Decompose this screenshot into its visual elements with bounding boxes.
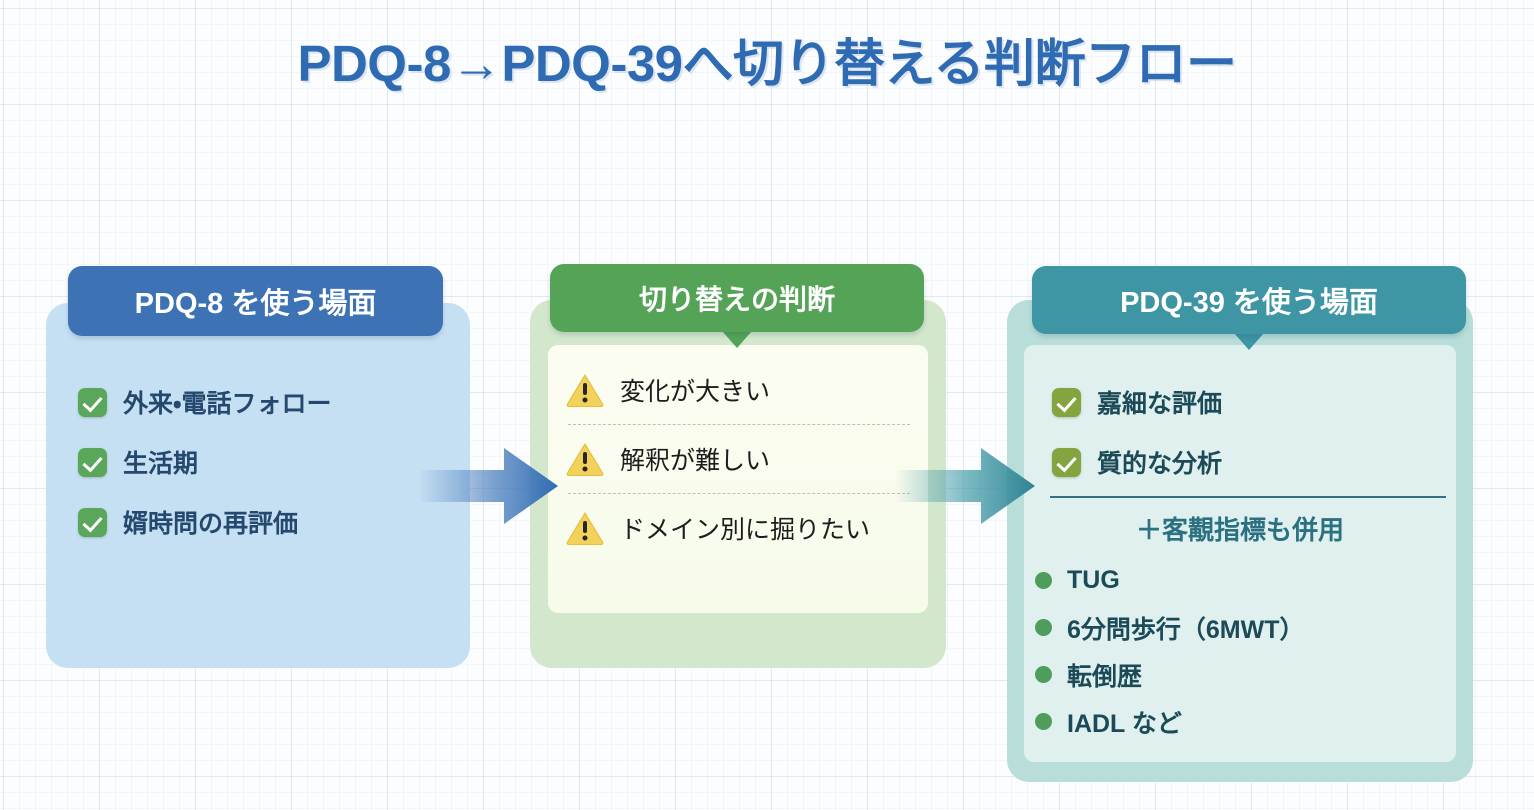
list-item: TUG [1035, 557, 1455, 604]
list-item: 質的な分析 [1052, 432, 1462, 492]
list-separator [568, 424, 910, 425]
list-item-label: 質的な分析 [1097, 444, 1222, 480]
card-pdq8-list: 外来・電話フォロー 生活期 婿時問の再評価 [78, 372, 448, 552]
check-icon [78, 448, 107, 477]
list-item: 嘉細な評価 [1052, 372, 1462, 432]
list-item-label: ドメイン別に掘りたい [620, 510, 870, 546]
warning-icon [566, 442, 604, 476]
list-separator [568, 493, 910, 494]
bullet-dot-icon [1035, 666, 1052, 683]
list-item-label: 転倒歴 [1067, 657, 1142, 693]
list-item-label: 婿時問の再評価 [123, 504, 298, 540]
card-pdq39-header-tail [1234, 333, 1264, 350]
check-icon [1052, 388, 1081, 417]
warning-icon [566, 373, 604, 407]
check-icon [1052, 448, 1081, 477]
list-item-label: 生活期 [123, 444, 198, 480]
card-pdq39-plus-note: ＋客覯指標も併用 [1024, 510, 1456, 547]
card-pdq39-bullet-list: TUG 6分問歩行（6MWT） 転倒歴 IADL など [1035, 557, 1455, 745]
list-item-label: TUG [1067, 566, 1120, 595]
list-item: 生活期 [78, 432, 448, 492]
list-item-label: 変化が大きい [620, 372, 770, 408]
list-item: 解釈が難しい [566, 429, 916, 489]
list-item: 6分問歩行（6MWT） [1035, 604, 1455, 651]
list-item: 婿時問の再評価 [78, 492, 448, 552]
list-item-label: 嘉細な評価 [1097, 384, 1222, 420]
list-item: IADL など [1035, 698, 1455, 745]
list-item-label: 6分問歩行（6MWT） [1067, 610, 1305, 646]
card-judgement-list: 変化が大きい 解釈が難しい ドメイン別に掘りたい [566, 360, 916, 558]
bullet-dot-icon [1035, 619, 1052, 636]
list-item: ドメイン別に掘りたい [566, 498, 916, 558]
card-pdq39-header: PDQ-39 を使う場面 [1032, 266, 1466, 334]
list-item: 外来・電話フォロー [78, 372, 448, 432]
warning-icon [566, 511, 604, 545]
card-pdq39-list: 嘉細な評価 質的な分析 [1052, 372, 1462, 492]
card-judgement-header-tail [722, 331, 752, 348]
bullet-dot-icon [1035, 713, 1052, 730]
bullet-dot-icon [1035, 572, 1052, 589]
arrow-card1-to-card2 [418, 440, 568, 532]
infographic-canvas: PDQ-8→PDQ-39へ切り替える判断フロー PDQ-8 を使う場面 外 [0, 0, 1534, 810]
check-icon [78, 508, 107, 537]
list-item: 変化が大きい [566, 360, 916, 420]
list-item: 転倒歴 [1035, 651, 1455, 698]
page-title: PDQ-8→PDQ-39へ切り替える判断フロー [0, 22, 1534, 96]
card-pdq39-divider [1050, 496, 1446, 498]
list-item-label: 外来・電話フォロー [123, 384, 332, 420]
list-item-label: IADL など [1067, 704, 1182, 740]
arrow-card2-to-card3 [895, 440, 1045, 532]
card-judgement-header: 切り替えの判断 [550, 264, 924, 332]
list-item-label: 解釈が難しい [620, 441, 770, 477]
card-pdq8-header: PDQ-8 を使う場面 [68, 266, 443, 336]
check-icon [78, 388, 107, 417]
